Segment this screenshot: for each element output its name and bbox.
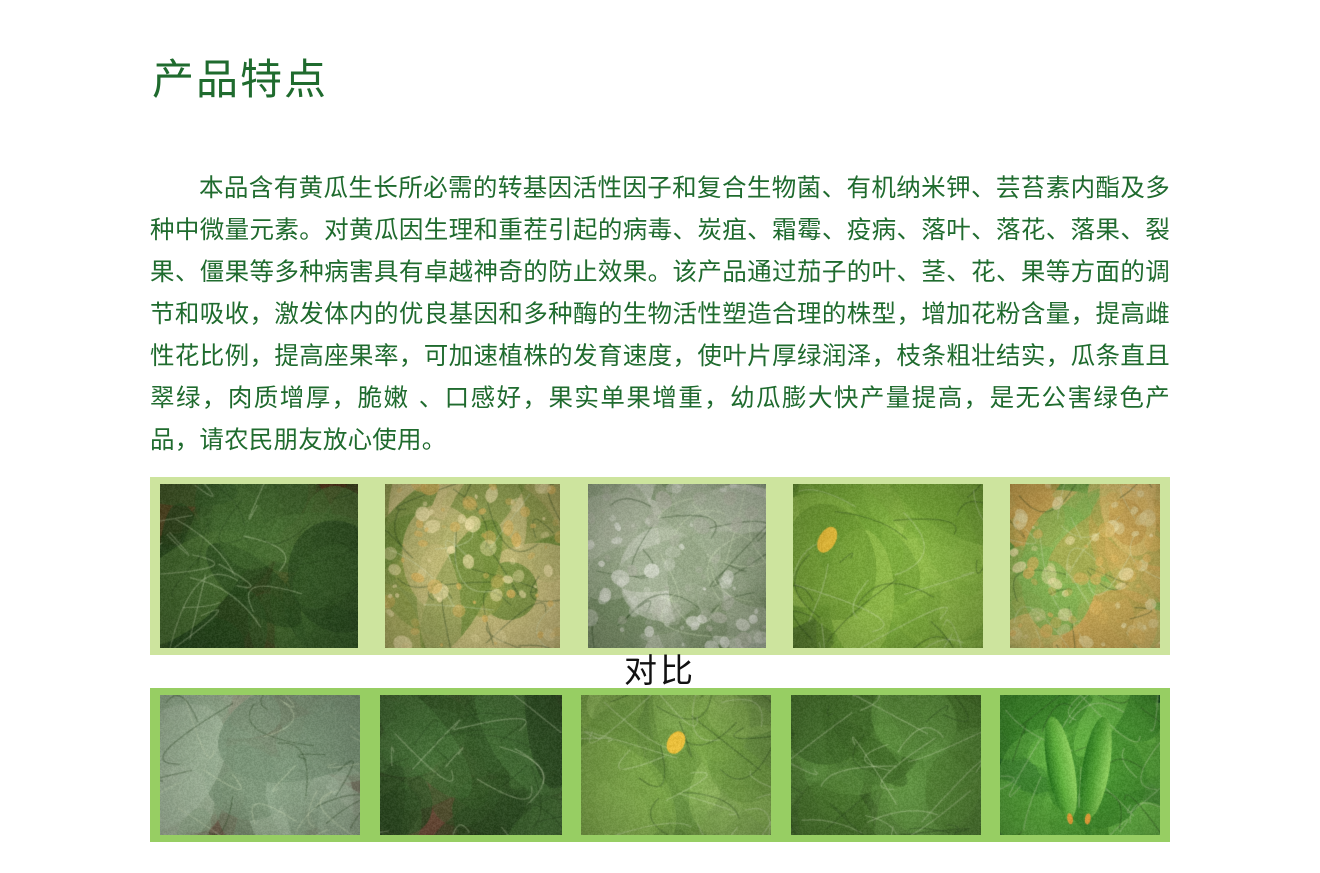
gallery-band-healthy [150, 688, 1170, 842]
flowering-young-fruit-photo-canvas [581, 695, 771, 835]
anthracnose-leaf-photo-canvas [385, 484, 560, 648]
gallery-band-diseased [150, 477, 1170, 655]
comparison-label: 对比 [0, 651, 1320, 691]
leaf-spot-yellowing-photo-canvas [1010, 484, 1160, 648]
anthracnose-leaf-photo [385, 484, 560, 648]
healthy-vine-leaves-photo-canvas [380, 695, 562, 835]
healthy-seedlings-photo-canvas [160, 695, 360, 835]
page-title: 产品特点 [152, 54, 328, 107]
downy-mildew-fruit-photo [588, 484, 766, 648]
broad-green-leaf-photo [791, 695, 981, 835]
product-features-page: 产品特点 本品含有黄瓜生长所必需的转基因活性因子和复合生物菌、有机纳米钾、芸苔素… [0, 0, 1320, 873]
product-description-paragraph: 本品含有黄瓜生长所必需的转基因活性因子和复合生物菌、有机纳米钾、芸苔素内酯及多种… [150, 167, 1170, 461]
virus-curled-leaf-photo-canvas [793, 484, 983, 648]
healthy-seedlings-photo [160, 695, 360, 835]
leaf-spot-yellowing-photo [1010, 484, 1160, 648]
flowering-young-fruit-photo [581, 695, 771, 835]
broad-green-leaf-photo-canvas [791, 695, 981, 835]
healthy-vine-leaves-photo [380, 695, 562, 835]
downy-mildew-fruit-photo-canvas [588, 484, 766, 648]
harvest-cucumbers-photo-canvas [1000, 695, 1160, 835]
diseased-seedling-soil-photo-canvas [160, 484, 358, 648]
virus-curled-leaf-photo [793, 484, 983, 648]
harvest-cucumbers-photo [1000, 695, 1160, 835]
diseased-seedling-soil-photo [160, 484, 358, 648]
